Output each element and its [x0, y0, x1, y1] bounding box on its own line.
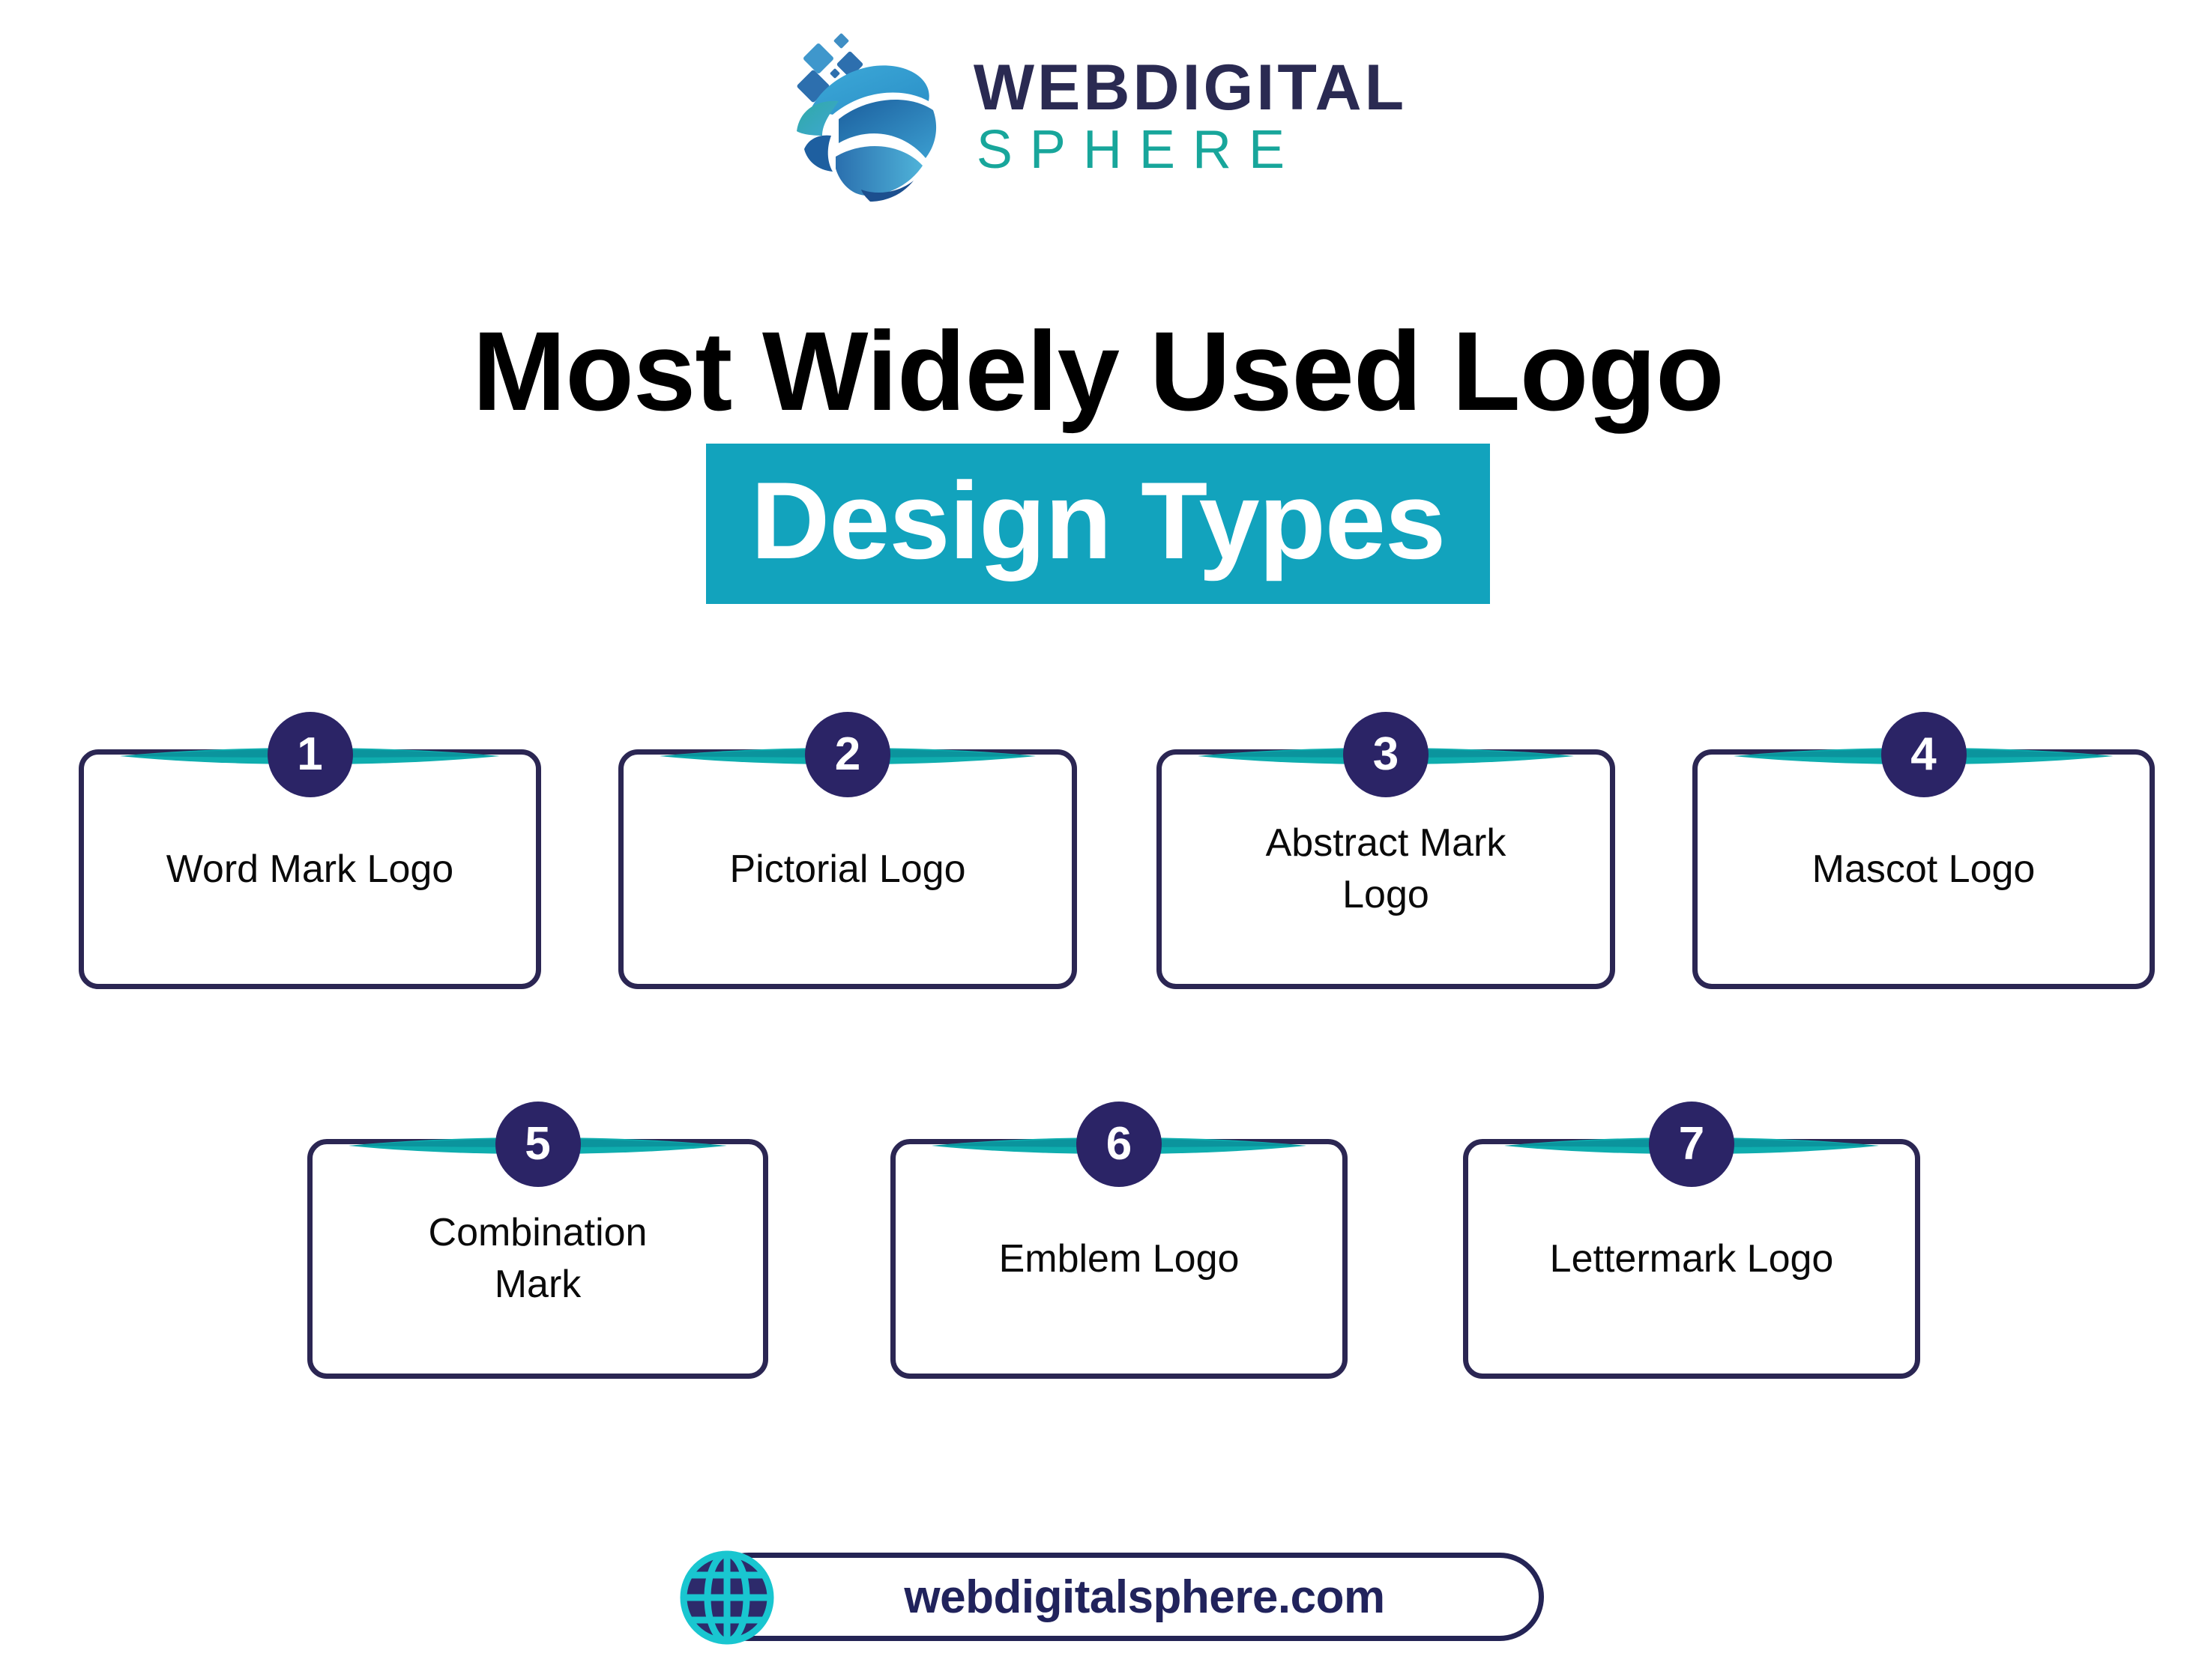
card-number-badge: 3: [1343, 712, 1429, 797]
card-label: Word Mark Logo: [147, 844, 473, 895]
logo-type-card[interactable]: 1Word Mark Logo: [79, 749, 541, 989]
headline-highlight-wrap: Design Types: [0, 444, 2196, 604]
logo-type-card[interactable]: 2Pictorial Logo: [618, 749, 1077, 989]
logo-type-card[interactable]: 3Abstract Mark Logo: [1156, 749, 1615, 989]
card-label: Abstract Mark Logo: [1246, 818, 1526, 920]
card-number-badge: 1: [268, 712, 353, 797]
brand-name-top: WEBDIGITAL: [974, 55, 1407, 120]
card-number-badge: 7: [1649, 1102, 1734, 1187]
card-number-badge: 5: [495, 1102, 581, 1187]
logo-type-card[interactable]: 6Emblem Logo: [890, 1139, 1348, 1379]
brand-name-bottom: SPHERE: [974, 120, 1407, 181]
footer-url-text: webdigitalsphere.com: [863, 1571, 1384, 1624]
card-label: Pictorial Logo: [710, 844, 985, 895]
card-label: Lettermark Logo: [1530, 1233, 1853, 1285]
card-label: Mascot Logo: [1793, 844, 2055, 895]
brand-header: WEBDIGITAL SPHERE: [0, 13, 2196, 216]
footer-url-badge[interactable]: webdigitalsphere.com: [705, 1553, 1544, 1641]
page-title: Most Widely Used Logo: [0, 315, 2196, 427]
logo-type-card[interactable]: 5Combination Mark: [307, 1139, 768, 1379]
brand-wordmark: WEBDIGITAL SPHERE: [974, 49, 1407, 181]
page-subtitle-highlight: Design Types: [706, 444, 1490, 604]
logo-type-card[interactable]: 4Mascot Logo: [1692, 749, 2155, 989]
card-number-badge: 2: [805, 712, 890, 797]
logo-type-card[interactable]: 7Lettermark Logo: [1463, 1139, 1920, 1379]
card-label: Emblem Logo: [980, 1233, 1259, 1285]
globe-icon: [679, 1550, 775, 1646]
card-label: Combination Mark: [409, 1207, 667, 1310]
headline-block: Most Widely Used Logo Design Types: [0, 315, 2196, 604]
card-number-badge: 4: [1881, 712, 1967, 797]
card-number-badge: 6: [1076, 1102, 1162, 1187]
swirled-sphere-icon: [789, 22, 948, 208]
